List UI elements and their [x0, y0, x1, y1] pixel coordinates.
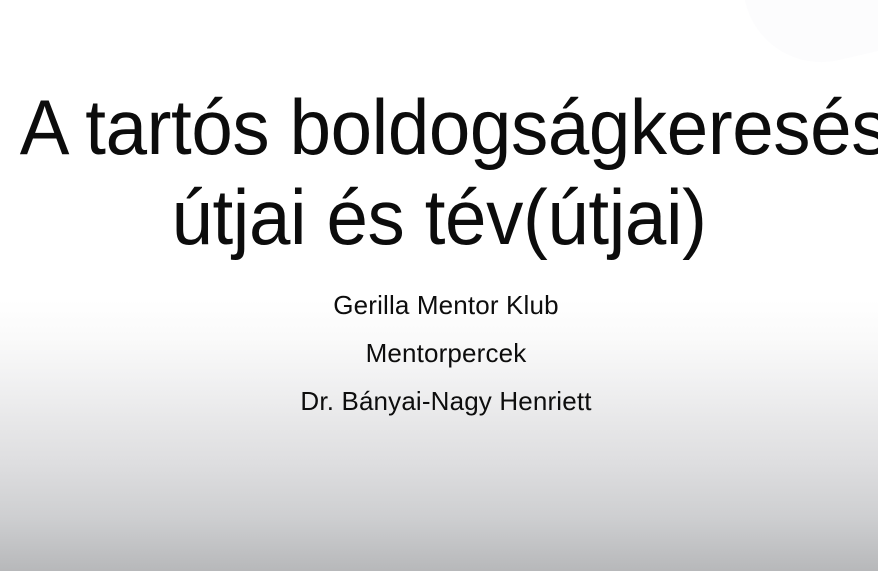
subtitle-line-presenter: Dr. Bányai-Nagy Henriett — [7, 377, 878, 425]
title-line-1: A tartós boldogságkeresés — [20, 82, 858, 172]
subtitle-line-series: Mentorpercek — [7, 329, 878, 377]
slide-title: A tartós boldogságkeresés útjai és tév(ú… — [20, 82, 858, 262]
slide-content: A tartós boldogságkeresés útjai és tév(ú… — [0, 0, 878, 571]
presentation-slide: A tartós boldogságkeresés útjai és tév(ú… — [0, 0, 878, 571]
slide-subtitle: Gerilla Mentor Klub Mentorpercek Dr. Bán… — [7, 281, 878, 425]
subtitle-line-organization: Gerilla Mentor Klub — [7, 281, 878, 329]
title-line-2: útjai és tév(útjai) — [20, 172, 858, 262]
